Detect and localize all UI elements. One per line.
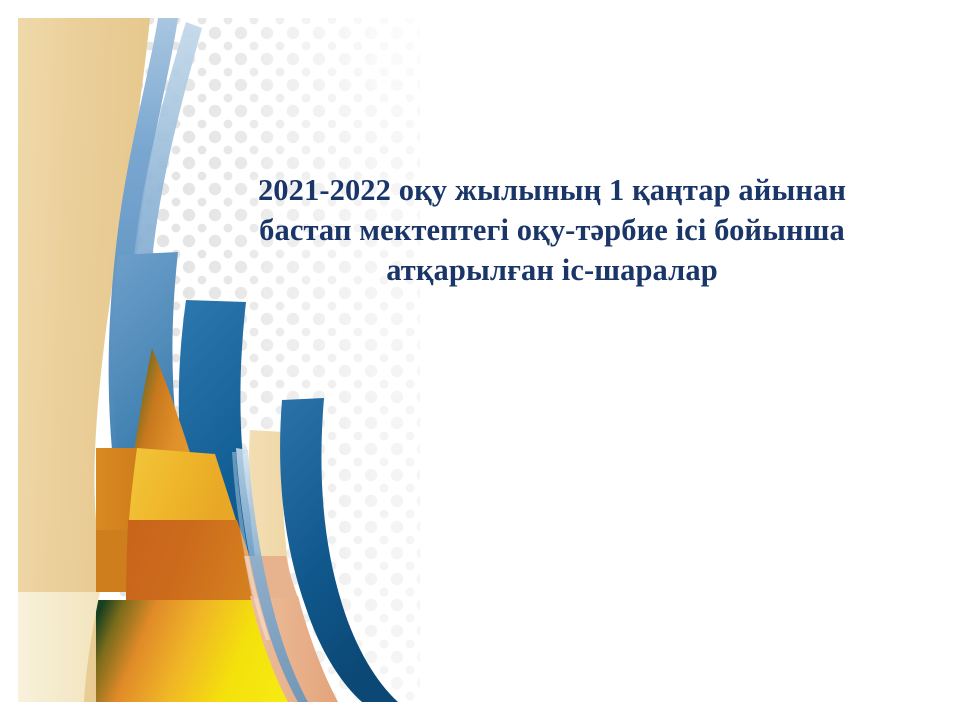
band-gold [129, 448, 236, 520]
ribbon-deep-blue-1 [179, 300, 330, 702]
ribbon-light-blue-outer [109, 18, 178, 450]
title-line-3: атқарылған іс-шаралар [218, 250, 886, 290]
slide-title: 2021-2022 оқу жылының 1 қаңтар айынан ба… [218, 170, 886, 290]
decorative-background-graphic [0, 0, 960, 720]
title-line-2: бастап мектептегі оқу-тәрбие ісі бойынша [218, 210, 886, 250]
tan-stripe-between-ribbons [249, 430, 336, 702]
ribbon-deep-blue-2 [280, 398, 398, 702]
slide-white-border [0, 0, 960, 720]
band-orange-left [96, 448, 137, 530]
leaf-edge-highlight [232, 452, 270, 640]
thin-blue-accent [236, 448, 308, 702]
band-orange-left2 [96, 530, 129, 592]
slide-canvas: 2021-2022 оқу жылының 1 қаңтар айынан ба… [0, 0, 960, 720]
halftone-dot-pattern [120, 18, 420, 702]
ribbon-light-blue-inner [128, 22, 202, 460]
cream-sliver-left [18, 592, 100, 702]
band-burnt-orange [126, 520, 266, 602]
salmon-column-upper [244, 556, 298, 598]
leaf-apex [128, 348, 204, 500]
salmon-column-visible [250, 596, 338, 702]
ribbon-mid-blue [112, 252, 262, 702]
title-line-1: 2021-2022 оқу жылының 1 қаңтар айынан [218, 170, 886, 210]
bottom-fan-gradient [96, 600, 308, 702]
tan-panel [18, 18, 150, 702]
